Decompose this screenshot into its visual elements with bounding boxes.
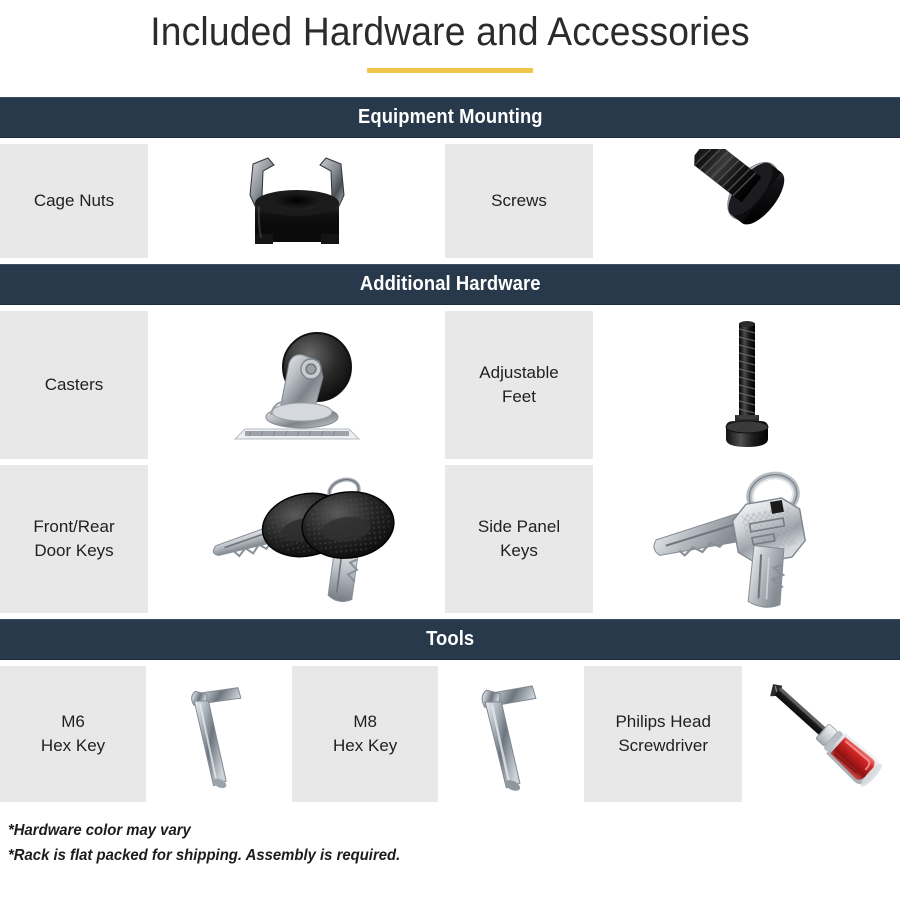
table-row-door-keys-panel-keys: Front/Rear Door Keys (0, 465, 900, 613)
label-cell-m8-hex-key: M8 Hex Key (292, 666, 438, 802)
label-cell-cage-nuts: Cage Nuts (0, 144, 148, 258)
hardware-accessories-infographic: Included Hardware and Accessories Equipm… (0, 0, 900, 900)
image-cell-m6-hex-key (146, 666, 292, 802)
label-line-2: Screwdriver (618, 736, 708, 755)
image-cell-casters (148, 311, 445, 459)
footnote-flat-packed: *Rack is flat packed for shipping. Assem… (8, 843, 864, 868)
label-cell-adjustable-feet: Adjustable Feet (445, 311, 593, 459)
hex-key-icon (461, 674, 561, 794)
footnote-hardware-color: *Hardware color may vary (8, 818, 864, 843)
image-cell-cage-nuts (148, 144, 445, 258)
hex-key-icon (169, 674, 269, 794)
label-line-1: M8 (353, 712, 377, 731)
label-text: Cage Nuts (34, 189, 114, 213)
section-header-additional-hardware: Additional Hardware (0, 264, 900, 305)
section-header-label: Tools (426, 628, 474, 651)
table-row-casters-feet: Casters (0, 311, 900, 459)
label-line-2: Keys (500, 541, 538, 560)
table-row-cage-nuts-screws: Cage Nuts (0, 144, 900, 258)
label-line-2: Hex Key (41, 736, 105, 755)
image-cell-m8-hex-key (438, 666, 584, 802)
image-cell-front-rear-door-keys (148, 465, 445, 613)
label-line-2: Feet (502, 387, 536, 406)
cage-nut-icon (222, 148, 372, 254)
label-text: Casters (45, 373, 104, 397)
label-line-1: Side Panel (478, 517, 560, 536)
label-line-1: Philips Head (615, 712, 710, 731)
label-text: Adjustable Feet (479, 361, 558, 409)
image-cell-side-panel-keys (593, 465, 900, 613)
label-text: Side Panel Keys (478, 515, 560, 563)
label-line-1: M6 (61, 712, 85, 731)
label-cell-casters: Casters (0, 311, 148, 459)
label-line-1: Adjustable (479, 363, 558, 382)
label-cell-philips-head-screwdriver: Philips Head Screwdriver (584, 666, 742, 802)
label-cell-side-panel-keys: Side Panel Keys (445, 465, 593, 613)
black-door-keys-icon (192, 469, 402, 609)
page-title: Included Hardware and Accessories (32, 6, 869, 58)
caster-wheel-icon (227, 319, 367, 451)
silver-panel-keys-icon (647, 469, 847, 609)
section-header-tools: Tools (0, 619, 900, 660)
table-row-tools: M6 Hex Key (0, 666, 900, 802)
label-text: Screws (491, 189, 547, 213)
image-cell-screws (593, 144, 900, 258)
image-cell-philips-head-screwdriver (742, 666, 900, 802)
screw-icon (667, 149, 827, 253)
label-cell-m6-hex-key: M6 Hex Key (0, 666, 146, 802)
footnotes: *Hardware color may vary *Rack is flat p… (0, 802, 900, 868)
philips-screwdriver-icon (746, 671, 896, 797)
label-text: Philips Head Screwdriver (615, 710, 710, 758)
section-header-label: Equipment Mounting (358, 106, 543, 129)
label-line-2: Door Keys (34, 541, 113, 560)
label-cell-front-rear-door-keys: Front/Rear Door Keys (0, 465, 148, 613)
adjustable-foot-icon (702, 315, 792, 455)
label-cell-screws: Screws (445, 144, 593, 258)
label-text: M8 Hex Key (333, 710, 397, 758)
label-line-1: Front/Rear (33, 517, 114, 536)
header: Included Hardware and Accessories (0, 0, 900, 73)
label-text: M6 Hex Key (41, 710, 105, 758)
image-cell-adjustable-feet (593, 311, 900, 459)
section-header-label: Additional Hardware (360, 273, 541, 296)
spacer-above-section-1 (0, 73, 900, 97)
section-header-equipment-mounting: Equipment Mounting (0, 97, 900, 138)
label-line-2: Hex Key (333, 736, 397, 755)
label-text: Front/Rear Door Keys (33, 515, 114, 563)
